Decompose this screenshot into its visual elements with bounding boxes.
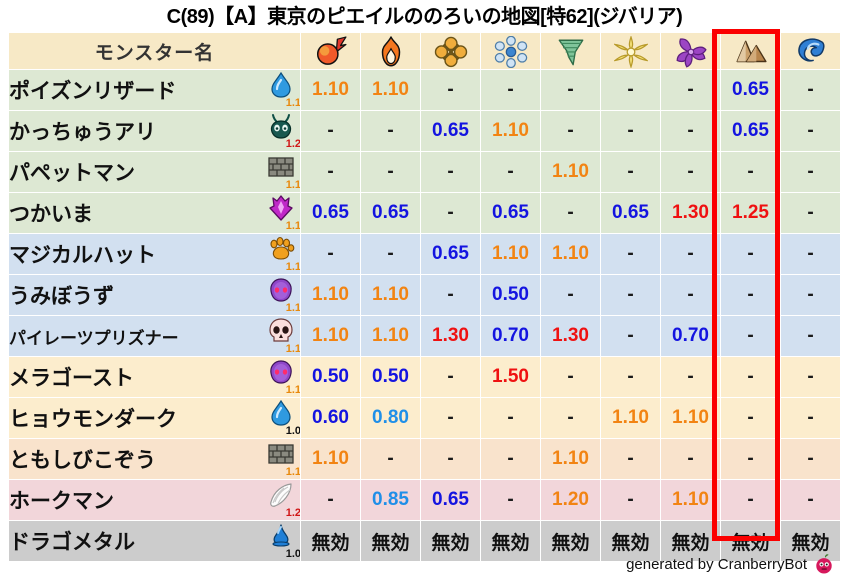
- cell-flame[interactable]: 1.10: [361, 70, 420, 110]
- monster-name: ポイズンリザード: [9, 75, 176, 105]
- table-row[interactable]: ヒョウモンダーク1.00.600.80---1.101.10--: [9, 398, 840, 438]
- cell-clover[interactable]: -: [421, 398, 480, 438]
- cell-star[interactable]: -: [601, 152, 660, 192]
- cell-mountain[interactable]: 0.65: [721, 70, 780, 110]
- cell-flame[interactable]: -: [361, 111, 420, 151]
- cell-clover[interactable]: 0.65: [421, 480, 480, 520]
- header-element-flame[interactable]: [361, 33, 420, 69]
- cell-clover[interactable]: -: [421, 357, 480, 397]
- attribute-level: 1.1: [286, 303, 300, 314]
- monster-attribute: 1.1: [266, 441, 300, 477]
- clover-cross-icon: [434, 36, 468, 66]
- attribute-level: 1.1: [286, 344, 300, 355]
- cell-clover[interactable]: -: [421, 193, 480, 233]
- monster-attribute: 1.1: [266, 277, 300, 313]
- monster-name-cell[interactable]: マジカルハット1.1: [9, 234, 300, 274]
- water-drop-icon: [267, 400, 295, 426]
- attribute-level: 1.2: [286, 139, 300, 150]
- cell-tornado[interactable]: -: [541, 398, 600, 438]
- table-header-row: モンスター名: [9, 33, 840, 69]
- monster-attribute: 1.0: [266, 400, 300, 436]
- starburst-icon: [614, 36, 648, 66]
- cell-clover[interactable]: 無効: [421, 521, 480, 561]
- cell-pinwheel[interactable]: -: [661, 70, 720, 110]
- cell-tornado[interactable]: -: [541, 275, 600, 315]
- header-element-clover[interactable]: [421, 33, 480, 69]
- purple-ghost-icon: [267, 277, 295, 303]
- blue-wave-icon: [794, 36, 828, 66]
- monster-name: ヒョウモンダーク: [9, 403, 177, 433]
- cell-meteor[interactable]: 1.10: [301, 439, 360, 479]
- header-element-tornado[interactable]: [541, 33, 600, 69]
- monster-name-cell[interactable]: ドラゴメタル1.0: [9, 521, 300, 561]
- cell-flame[interactable]: 0.65: [361, 193, 420, 233]
- monster-name-cell[interactable]: ポイズンリザード1.1: [9, 70, 300, 110]
- cell-flame[interactable]: -: [361, 439, 420, 479]
- monster-attribute: 1.1: [266, 154, 300, 190]
- monster-name-cell[interactable]: つかいま1.1: [9, 193, 300, 233]
- monster-attribute: 1.0: [266, 523, 300, 559]
- cell-meteor[interactable]: 1.10: [301, 316, 360, 356]
- monster-name: パペットマン: [9, 157, 135, 187]
- cell-tornado[interactable]: 1.20: [541, 480, 600, 520]
- blue-slime-icon: [267, 523, 295, 549]
- cell-tornado[interactable]: -: [541, 111, 600, 151]
- cell-wave[interactable]: -: [781, 357, 840, 397]
- cell-wave[interactable]: -: [781, 316, 840, 356]
- cell-wave[interactable]: -: [781, 234, 840, 274]
- paw-print-icon: [267, 236, 295, 262]
- cell-mountain[interactable]: -: [721, 275, 780, 315]
- cell-mountain[interactable]: -: [721, 398, 780, 438]
- cell-star[interactable]: -: [601, 439, 660, 479]
- monster-attribute: 1.2: [266, 482, 300, 518]
- cell-tornado[interactable]: 1.30: [541, 316, 600, 356]
- cell-clover[interactable]: -: [421, 152, 480, 192]
- monster-name: マジカルハット: [9, 239, 156, 269]
- skull-icon: [267, 318, 295, 344]
- table-row[interactable]: ポイズンリザード1.11.101.10-----0.65-: [9, 70, 840, 110]
- table-row[interactable]: うみぼうず1.11.101.10-0.50-----: [9, 275, 840, 315]
- header-element-snow[interactable]: [481, 33, 540, 69]
- cell-flame[interactable]: 1.10: [361, 316, 420, 356]
- page-title: C(89)【A】東京のピエイルののろいの地図[特62](ジバリア): [0, 0, 849, 29]
- feather-wing-icon: [267, 482, 295, 508]
- cell-star[interactable]: 1.10: [601, 398, 660, 438]
- cell-clover[interactable]: 0.65: [421, 111, 480, 151]
- cell-mountain[interactable]: -: [721, 152, 780, 192]
- monster-name-cell[interactable]: メラゴースト1.1: [9, 357, 300, 397]
- cell-snow[interactable]: -: [481, 480, 540, 520]
- cell-snow[interactable]: 1.10: [481, 111, 540, 151]
- cell-star[interactable]: -: [601, 316, 660, 356]
- table-body: モンスター名ポイズンリザード1.11.101.10-----0.65-かっちゅう…: [9, 33, 840, 561]
- cell-snow[interactable]: 0.50: [481, 275, 540, 315]
- cranberry-icon: [813, 553, 835, 575]
- cell-meteor[interactable]: -: [301, 480, 360, 520]
- cell-meteor[interactable]: 0.65: [301, 193, 360, 233]
- cell-snow[interactable]: 0.65: [481, 193, 540, 233]
- monster-name: パイレーツプリズナー: [9, 324, 179, 349]
- header-element-pinwheel[interactable]: [661, 33, 720, 69]
- monster-name-cell[interactable]: ホークマン1.2: [9, 480, 300, 520]
- cell-snow[interactable]: -: [481, 152, 540, 192]
- cell-wave[interactable]: -: [781, 111, 840, 151]
- table-row[interactable]: ホークマン1.2-0.850.65-1.20-1.10--: [9, 480, 840, 520]
- cell-wave[interactable]: -: [781, 152, 840, 192]
- cell-tornado[interactable]: 1.10: [541, 152, 600, 192]
- cell-star[interactable]: -: [601, 480, 660, 520]
- monster-name: メラゴースト: [9, 362, 134, 392]
- brick-wall-icon: [267, 154, 295, 180]
- cell-flame[interactable]: 0.50: [361, 357, 420, 397]
- cell-clover[interactable]: 1.30: [421, 316, 480, 356]
- monster-name: ともしびこぞう: [9, 444, 156, 474]
- cell-tornado[interactable]: 無効: [541, 521, 600, 561]
- cell-tornado[interactable]: 1.10: [541, 234, 600, 274]
- monster-attribute: 1.1: [266, 318, 300, 354]
- monster-name: かっちゅうアリ: [9, 116, 156, 146]
- cell-tornado[interactable]: 1.10: [541, 439, 600, 479]
- cell-pinwheel[interactable]: -: [661, 275, 720, 315]
- cell-snow[interactable]: -: [481, 439, 540, 479]
- header-element-star[interactable]: [601, 33, 660, 69]
- attribute-level: 1.0: [286, 426, 300, 437]
- cell-mountain[interactable]: 1.25: [721, 193, 780, 233]
- cell-tornado[interactable]: -: [541, 70, 600, 110]
- cell-meteor[interactable]: 0.60: [301, 398, 360, 438]
- monster-name-cell[interactable]: パペットマン1.1: [9, 152, 300, 192]
- attribute-level: 1.0: [286, 549, 300, 560]
- cell-flame[interactable]: -: [361, 234, 420, 274]
- table-row[interactable]: つかいま1.10.650.65-0.65-0.651.301.25-: [9, 193, 840, 233]
- cell-mountain[interactable]: -: [721, 480, 780, 520]
- table-row[interactable]: かっちゅうアリ1.2--0.651.10---0.65-: [9, 111, 840, 151]
- cell-star[interactable]: -: [601, 357, 660, 397]
- cell-meteor[interactable]: 無効: [301, 521, 360, 561]
- cell-snow[interactable]: 0.70: [481, 316, 540, 356]
- monster-attribute: 1.1: [266, 195, 300, 231]
- meteor-fire-icon: [314, 36, 348, 66]
- monster-name-cell[interactable]: うみぼうず1.1: [9, 275, 300, 315]
- cell-mountain[interactable]: 0.65: [721, 111, 780, 151]
- tornado-icon: [554, 36, 588, 66]
- header-element-meteor[interactable]: [301, 33, 360, 69]
- cell-wave[interactable]: -: [781, 439, 840, 479]
- cell-mountain[interactable]: -: [721, 316, 780, 356]
- cell-mountain[interactable]: -: [721, 357, 780, 397]
- table-row[interactable]: マジカルハット1.1--0.651.101.10----: [9, 234, 840, 274]
- cell-star[interactable]: 0.65: [601, 193, 660, 233]
- cell-flame[interactable]: 1.10: [361, 275, 420, 315]
- attribute-level: 1.1: [286, 221, 300, 232]
- cell-clover[interactable]: -: [421, 275, 480, 315]
- purple-pinwheel-icon: [674, 36, 708, 66]
- cell-pinwheel[interactable]: 1.10: [661, 398, 720, 438]
- brick-wall-icon: [267, 441, 295, 467]
- cell-meteor[interactable]: -: [301, 234, 360, 274]
- table-row[interactable]: ともしびこぞう1.11.10---1.10----: [9, 439, 840, 479]
- cell-star[interactable]: -: [601, 234, 660, 274]
- monster-name-cell[interactable]: パイレーツプリズナー1.1: [9, 316, 300, 356]
- cell-pinwheel[interactable]: 1.30: [661, 193, 720, 233]
- cell-pinwheel[interactable]: -: [661, 111, 720, 151]
- cell-snow[interactable]: -: [481, 398, 540, 438]
- cell-wave[interactable]: -: [781, 193, 840, 233]
- monster-name: ホークマン: [9, 485, 114, 515]
- cell-pinwheel[interactable]: -: [661, 357, 720, 397]
- cell-clover[interactable]: 0.65: [421, 234, 480, 274]
- flame-icon: [374, 36, 408, 66]
- cell-flame[interactable]: 無効: [361, 521, 420, 561]
- resistance-table: モンスター名ポイズンリザード1.11.101.10-----0.65-かっちゅう…: [8, 32, 841, 562]
- cell-meteor[interactable]: 0.50: [301, 357, 360, 397]
- cell-tornado[interactable]: -: [541, 193, 600, 233]
- cell-pinwheel[interactable]: -: [661, 234, 720, 274]
- cell-star[interactable]: -: [601, 111, 660, 151]
- attribute-level: 1.1: [286, 262, 300, 273]
- monster-name-cell[interactable]: ともしびこぞう1.1: [9, 439, 300, 479]
- monster-attribute: 1.1: [266, 236, 300, 272]
- purple-ghost-icon: [267, 359, 295, 385]
- cell-meteor[interactable]: 1.10: [301, 275, 360, 315]
- table-row[interactable]: メラゴースト1.10.500.50-1.50-----: [9, 357, 840, 397]
- monster-attribute: 1.1: [266, 359, 300, 395]
- snowflake-icon: [494, 36, 528, 66]
- table-row[interactable]: パイレーツプリズナー1.11.101.101.300.701.30-0.70--: [9, 316, 840, 356]
- monster-name-cell[interactable]: かっちゅうアリ1.2: [9, 111, 300, 151]
- header-element-wave[interactable]: [781, 33, 840, 69]
- cell-tornado[interactable]: -: [541, 357, 600, 397]
- cell-snow[interactable]: 1.50: [481, 357, 540, 397]
- cell-wave[interactable]: -: [781, 275, 840, 315]
- cell-star[interactable]: -: [601, 275, 660, 315]
- cell-meteor[interactable]: 1.10: [301, 70, 360, 110]
- monster-name: つかいま: [9, 198, 93, 228]
- cell-flame[interactable]: 0.85: [361, 480, 420, 520]
- attribute-level: 1.2: [286, 508, 300, 519]
- attribute-level: 1.1: [286, 385, 300, 396]
- attribute-level: 1.1: [286, 467, 300, 478]
- cell-mountain[interactable]: -: [721, 234, 780, 274]
- header-element-mountain[interactable]: [721, 33, 780, 69]
- cell-wave[interactable]: -: [781, 480, 840, 520]
- mountain-icon: [734, 36, 768, 66]
- cell-clover[interactable]: -: [421, 439, 480, 479]
- monster-name: ドラゴメタル: [9, 526, 135, 556]
- cell-snow[interactable]: -: [481, 70, 540, 110]
- cell-flame[interactable]: 0.80: [361, 398, 420, 438]
- purple-trident-icon: [267, 195, 295, 221]
- monster-name: うみぼうず: [9, 280, 114, 310]
- cell-flame[interactable]: -: [361, 152, 420, 192]
- cell-star[interactable]: -: [601, 70, 660, 110]
- attribute-level: 1.1: [286, 180, 300, 191]
- cell-wave[interactable]: -: [781, 398, 840, 438]
- cell-pinwheel[interactable]: 0.70: [661, 316, 720, 356]
- cell-clover[interactable]: -: [421, 70, 480, 110]
- monster-attribute: 1.1: [266, 72, 300, 108]
- cell-pinwheel[interactable]: 1.10: [661, 480, 720, 520]
- attribute-level: 1.1: [286, 98, 300, 109]
- footer-text: generated by CranberryBot: [626, 556, 807, 573]
- cell-mountain[interactable]: -: [721, 439, 780, 479]
- cell-pinwheel[interactable]: -: [661, 439, 720, 479]
- cell-snow[interactable]: 1.10: [481, 234, 540, 274]
- header-monster-name: モンスター名: [9, 33, 300, 69]
- resistance-table-container: モンスター名ポイズンリザード1.11.101.10-----0.65-かっちゅう…: [8, 32, 841, 562]
- monster-name-cell[interactable]: ヒョウモンダーク1.0: [9, 398, 300, 438]
- footer-credit: generated by CranberryBot: [626, 553, 835, 575]
- cell-snow[interactable]: 無効: [481, 521, 540, 561]
- cell-meteor[interactable]: -: [301, 152, 360, 192]
- water-drop-icon: [267, 72, 295, 98]
- cell-pinwheel[interactable]: -: [661, 152, 720, 192]
- monster-attribute: 1.2: [266, 113, 300, 149]
- table-row[interactable]: パペットマン1.1----1.10----: [9, 152, 840, 192]
- beetle-icon: [267, 113, 295, 139]
- cell-wave[interactable]: -: [781, 70, 840, 110]
- cell-meteor[interactable]: -: [301, 111, 360, 151]
